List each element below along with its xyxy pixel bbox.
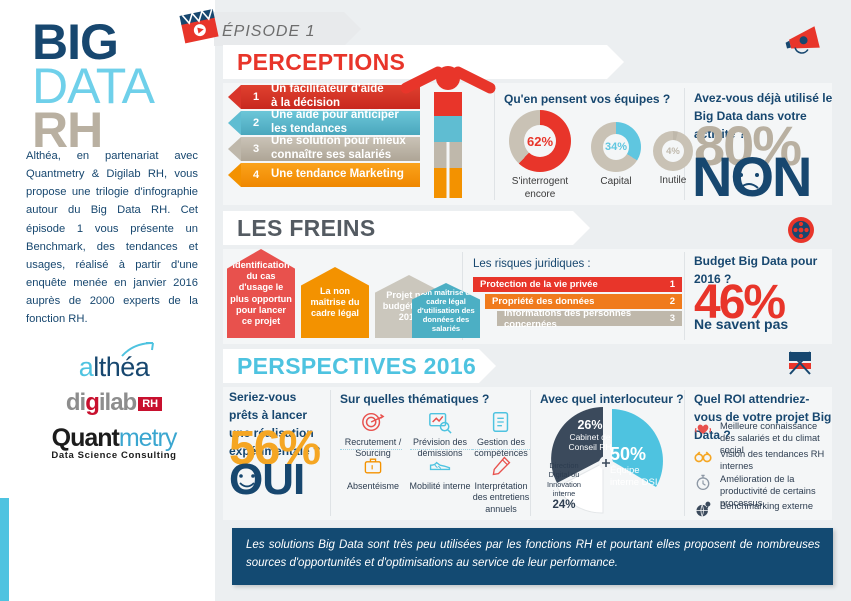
theme-divider-3 bbox=[472, 449, 530, 451]
sidebar-accent-bar bbox=[0, 498, 9, 601]
partner-logos: althéa digilabRH Quantmetry Data Science… bbox=[26, 352, 202, 461]
theme-mobilite[interactable]: Mobilité interne bbox=[407, 453, 473, 492]
interlocutor-value: 26% bbox=[561, 418, 619, 432]
donut-interrogent: 62% S'interrogent encore bbox=[504, 110, 576, 201]
risks-title: Les risques juridiques : bbox=[473, 254, 591, 272]
target-icon bbox=[340, 409, 406, 435]
episode-label: ÉPISODE 1 bbox=[222, 23, 315, 41]
section-header-freins: LES FREINS bbox=[223, 211, 573, 245]
person-figure-icon bbox=[398, 62, 498, 202]
conclusion-text: Les solutions Big Data sont très peu uti… bbox=[246, 537, 820, 573]
logo-althea: althéa bbox=[26, 352, 202, 383]
rank-label: Une tendance Marketing bbox=[271, 168, 404, 182]
rank-label: Une aide pour anticiper les tendances bbox=[271, 109, 399, 137]
roi-label: Vision des tendances RH internes bbox=[720, 448, 834, 472]
intro-paragraph: Althéa, en partenariat avec Quantmetry &… bbox=[26, 147, 198, 328]
donut-ring: 62% bbox=[509, 110, 571, 172]
brand-title: BIG DATA RH bbox=[32, 20, 197, 152]
chart-search-icon bbox=[407, 409, 473, 435]
interlocutor-label: Équipe interne DSI bbox=[610, 465, 670, 489]
althea-a: a bbox=[79, 352, 94, 382]
frein-label: Non maîtrise du cadre légal d'utilisatio… bbox=[412, 288, 480, 334]
donut-ring: 4% bbox=[653, 131, 693, 171]
binoculars-icon bbox=[694, 448, 716, 471]
logo-quantmetry: Quantmetry Data Science Consulting bbox=[26, 424, 202, 461]
hands-heart-icon bbox=[694, 420, 716, 443]
perception-rank-2: 2 Une aide pour anticiper les tendances bbox=[228, 111, 420, 135]
sneaker-icon bbox=[407, 453, 473, 479]
film-reel-icon bbox=[786, 215, 816, 245]
pen-icon bbox=[468, 453, 534, 479]
budget-answer: Ne savent pas bbox=[694, 316, 788, 332]
risk-rank: 1 bbox=[670, 279, 675, 290]
logo-digilab: digilabRH bbox=[26, 389, 202, 417]
theme-entretiens[interactable]: Interprétation des entretiens annuels bbox=[468, 453, 534, 515]
quantmetry-metry: metry bbox=[119, 424, 177, 452]
interlocutor-label: Cabinet de Conseil RH bbox=[561, 432, 619, 452]
donut-caption: S'interrogent encore bbox=[504, 176, 576, 201]
digilab-rh-badge: RH bbox=[138, 397, 162, 411]
theme-competences[interactable]: Gestion des compétences bbox=[468, 409, 534, 460]
perception-rank-1: 1 Un facilitateur d'aide à la décision bbox=[228, 85, 420, 109]
perception-rank-4: 4 Une tendance Marketing bbox=[228, 163, 420, 187]
risk-rank: 3 bbox=[670, 313, 675, 324]
digilab-di: di bbox=[66, 389, 85, 416]
teams-question-text: Qu'en pensent vos équipes ? bbox=[504, 92, 670, 106]
usage-answer-block: NON bbox=[692, 152, 810, 202]
theme-recrutement[interactable]: Recrutement / Sourcing bbox=[340, 409, 406, 460]
interlocutor-direction: Direction Digital ou Innovation interne … bbox=[540, 461, 588, 511]
theme-divider-2 bbox=[410, 449, 472, 451]
sad-face-icon bbox=[732, 162, 766, 196]
althea-swoosh-icon bbox=[121, 342, 155, 358]
frein-label: Identification du cas d'usage le plus op… bbox=[227, 260, 295, 326]
theme-label: Absentéisme bbox=[340, 481, 406, 492]
infographic-page: BIG DATA RH Althéa, en partenariat avec … bbox=[0, 0, 851, 601]
rank-label: Une solution pour mieux connaître ses sa… bbox=[271, 135, 406, 163]
risk-bar-3[interactable]: Informations des personnes concernées 3 bbox=[497, 311, 682, 326]
themes-question: Sur quelles thématiques ? bbox=[340, 390, 489, 408]
rank-number: 3 bbox=[241, 143, 271, 155]
panel-divider-5 bbox=[330, 390, 331, 516]
section-header-perspectives: PERSPECTIVES 2016 bbox=[223, 349, 479, 383]
smiley-face-icon bbox=[232, 465, 262, 495]
interlocutor-question: Avec quel interlocuteur ? bbox=[540, 390, 684, 408]
theme-divider-1 bbox=[340, 449, 402, 451]
theme-absenteisme[interactable]: Absentéisme bbox=[340, 453, 406, 492]
donut-ring: 34% bbox=[591, 122, 641, 172]
section-title-perceptions: PERCEPTIONS bbox=[237, 49, 405, 76]
chevron-left-icon bbox=[228, 111, 241, 135]
risk-rank: 2 bbox=[670, 296, 675, 307]
section-title-freins: LES FREINS bbox=[237, 215, 375, 242]
ready-answer-block: OUI bbox=[229, 460, 304, 500]
globe-pin-icon bbox=[694, 500, 716, 523]
rank-number: 2 bbox=[241, 117, 271, 129]
perception-rank-3: 3 Une solution pour mieux connaître ses … bbox=[228, 137, 420, 161]
rank-number: 4 bbox=[241, 169, 271, 181]
section-title-perspectives: PERSPECTIVES 2016 bbox=[237, 353, 476, 380]
donut-value: 4% bbox=[662, 140, 684, 162]
rank-label: Un facilitateur d'aide à la décision bbox=[271, 83, 384, 111]
donut-capital: 34% Capital bbox=[586, 122, 646, 189]
theme-label: Interprétation des entretiens annuels bbox=[468, 481, 534, 515]
digilab-g: g bbox=[85, 389, 99, 416]
frein-label: La non maîtrise du cadre légal bbox=[301, 286, 369, 319]
briefcase-icon bbox=[340, 453, 406, 479]
stopwatch-icon bbox=[694, 473, 716, 496]
left-sidebar: BIG DATA RH Althéa, en partenariat avec … bbox=[0, 0, 215, 601]
chevron-left-icon bbox=[228, 137, 241, 161]
conclusion-banner: Les solutions Big Data sont très peu uti… bbox=[232, 528, 833, 585]
donut-value: 62% bbox=[524, 125, 556, 157]
chevron-left-icon bbox=[228, 85, 241, 109]
risk-bar-1[interactable]: Protection de la vie privée 1 bbox=[473, 277, 682, 292]
digilab-rest: ilab bbox=[99, 389, 136, 416]
rank-number: 1 bbox=[241, 91, 271, 103]
themes-question-text: Sur quelles thématiques ? bbox=[340, 392, 489, 406]
interlocutor-cabinet: 26% Cabinet de Conseil RH bbox=[561, 418, 619, 452]
clapboard-icon bbox=[174, 6, 226, 46]
director-chair-icon bbox=[784, 348, 816, 380]
panel-divider-7 bbox=[684, 390, 685, 516]
teams-question: Qu'en pensent vos équipes ? bbox=[504, 90, 670, 108]
panel-divider-4 bbox=[684, 252, 685, 340]
roi-label: Benchmarking externe bbox=[720, 500, 813, 512]
theme-prevision[interactable]: Prévision des démissions bbox=[407, 409, 473, 460]
quantmetry-tagline: Data Science Consulting bbox=[26, 450, 202, 461]
risk-label: Protection de la vie privée bbox=[480, 279, 598, 290]
interlocutor-dsi: 50% Équipe interne DSI bbox=[610, 444, 670, 489]
roi-item-2[interactable]: Vision des tendances RH internes bbox=[694, 448, 834, 472]
document-list-icon bbox=[468, 409, 534, 435]
risks-title-text: Les risques juridiques : bbox=[473, 258, 591, 270]
chevron-left-icon bbox=[228, 163, 241, 187]
interlocutor-label: Direction Digital ou Innovation interne bbox=[540, 461, 588, 498]
quantmetry-quant: Quant bbox=[52, 424, 119, 452]
interlocutor-question-text: Avec quel interlocuteur ? bbox=[540, 392, 684, 406]
interlocutor-value: 50% bbox=[610, 444, 670, 465]
donut-value: 34% bbox=[603, 134, 629, 160]
theme-label: Mobilité interne bbox=[407, 481, 473, 492]
risk-label: Propriété des données bbox=[492, 296, 594, 307]
donut-caption: Capital bbox=[586, 176, 646, 189]
brand-line-rh: RH bbox=[32, 108, 197, 152]
megaphone-icon bbox=[782, 25, 828, 59]
roi-item-4[interactable]: Benchmarking externe bbox=[694, 500, 834, 523]
risk-label: Informations des personnes concernées bbox=[504, 308, 670, 330]
interlocutor-value: 24% bbox=[540, 499, 588, 511]
